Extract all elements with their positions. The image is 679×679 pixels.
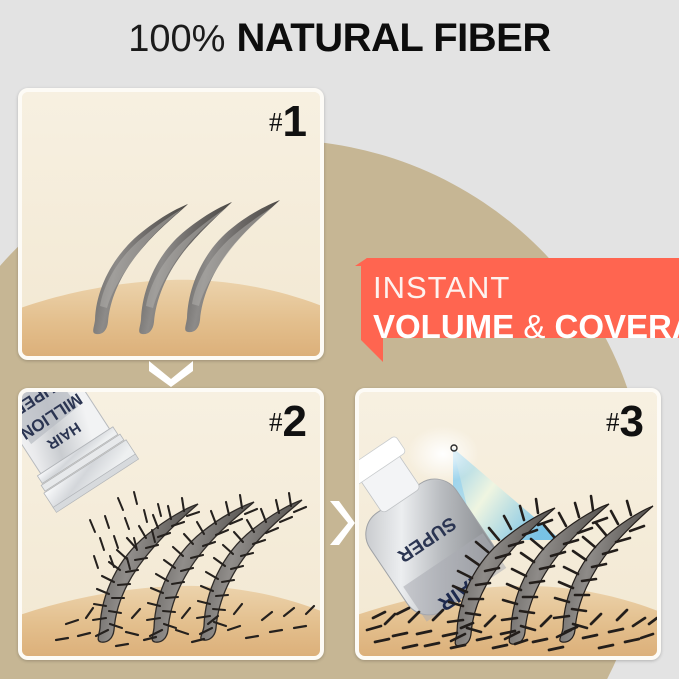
chevron-right-icon — [325, 493, 355, 553]
chevron-down-icon — [141, 357, 201, 387]
step-badge-2: #2 — [269, 400, 307, 444]
promo-banner-line1: INSTANT — [373, 272, 679, 303]
promo-banner-text: INSTANT VOLUME & COVERAGE — [373, 272, 679, 343]
spray-mist-glow — [407, 426, 479, 482]
step-badge-hash-2: # — [269, 407, 283, 437]
title-percent-text: 100% — [128, 18, 225, 60]
infographic-stage: 100%NATURAL FIBER — [0, 0, 679, 679]
step-panel-1: #1 — [18, 88, 324, 360]
page-title: 100%NATURAL FIBER — [0, 18, 679, 58]
promo-coverage-text: COVERAGE — [555, 308, 679, 345]
step-badge-number-3: 3 — [620, 397, 644, 446]
step-badge-hash-1: # — [269, 107, 283, 137]
step-badge-1: #1 — [269, 100, 307, 144]
arrow-down-step1-to-step2 — [141, 357, 201, 387]
promo-ampersand: & — [523, 308, 545, 345]
promo-banner-line2: VOLUME & COVERAGE — [373, 310, 679, 343]
title-main-text: NATURAL FIBER — [236, 16, 550, 60]
promo-banner: INSTANT VOLUME & COVERAGE — [355, 258, 679, 362]
step-badge-number-2: 2 — [283, 397, 307, 446]
promo-volume-text: VOLUME — [373, 308, 514, 345]
step-badge-hash-3: # — [606, 407, 620, 437]
arrow-right-step2-to-step3 — [325, 493, 355, 553]
step-badge-number-1: 1 — [283, 97, 307, 146]
step-badge-3: #3 — [606, 400, 644, 444]
step-panel-3: SUPER HAIR — [355, 388, 661, 660]
step-panel-2: SUPER MILLION HAIR #2 — [18, 388, 324, 660]
